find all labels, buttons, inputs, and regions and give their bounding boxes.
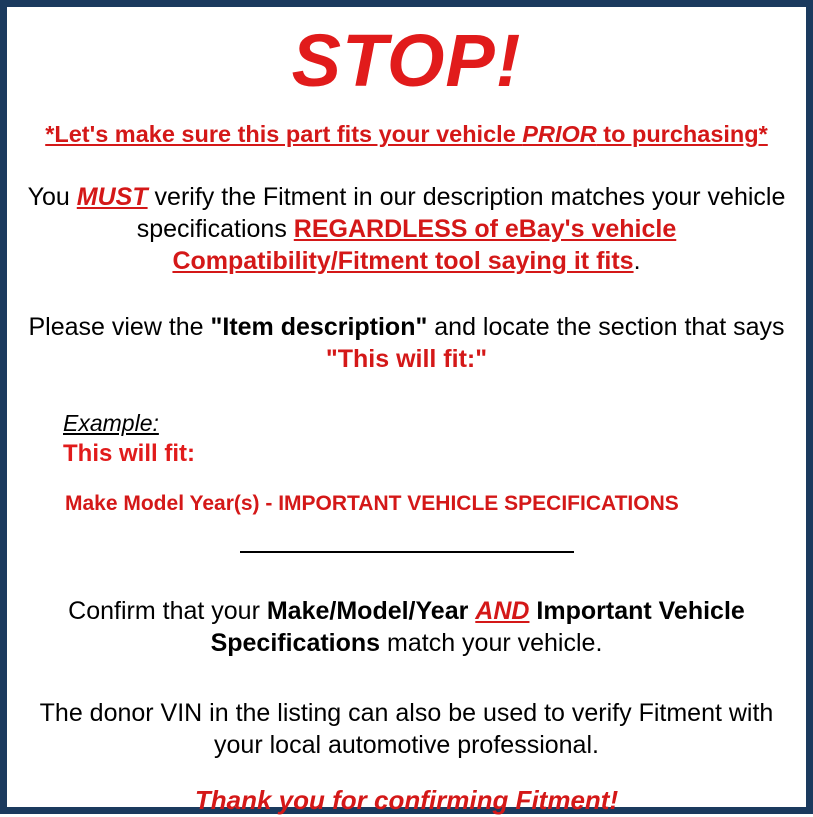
subtitle-emphasis-prior: PRIOR bbox=[522, 121, 596, 147]
must-verify-paragraph: You MUST verify the Fitment in our descr… bbox=[19, 149, 794, 277]
notice-inner: STOP! *Let's make sure this part fits yo… bbox=[19, 7, 794, 807]
confirm-part-1: Confirm that your bbox=[68, 597, 267, 625]
make-model-year-emphasis: Make/Model/Year bbox=[267, 597, 468, 625]
fitment-notice-card: STOP! *Let's make sure this part fits yo… bbox=[0, 0, 813, 814]
confirm-paragraph: Confirm that your Make/Model/Year AND Im… bbox=[19, 561, 794, 659]
divider-wrap bbox=[19, 517, 794, 561]
must-part-1: You bbox=[28, 183, 77, 211]
item-description-quote: "Item description" bbox=[211, 313, 428, 341]
and-keyword: AND bbox=[475, 597, 529, 625]
this-will-fit-quote: "This will fit:" bbox=[326, 345, 487, 373]
example-label-row: Example: bbox=[63, 409, 794, 437]
closing-thank-you: Thank you for confirming Fitment! bbox=[19, 761, 794, 817]
stop-headline: STOP! bbox=[19, 7, 794, 103]
item-description-paragraph: Please view the "Item description" and l… bbox=[19, 277, 794, 375]
subtitle-banner: *Let's make sure this part fits your veh… bbox=[19, 103, 794, 149]
subtitle-tail: to purchasing* bbox=[597, 121, 768, 147]
subtitle-lead: *Let's make sure this part fits your veh… bbox=[45, 121, 522, 147]
confirm-part-7: match your vehicle. bbox=[380, 629, 602, 657]
must-keyword: MUST bbox=[77, 183, 148, 211]
example-fit-heading: This will fit: bbox=[63, 437, 794, 469]
example-block: Example: This will fit: Make Model Year(… bbox=[19, 375, 794, 517]
example-spec-line: Make Model Year(s) - IMPORTANT VEHICLE S… bbox=[63, 469, 794, 517]
donor-vin-paragraph: The donor VIN in the listing can also be… bbox=[19, 659, 794, 761]
please-part-1: Please view the bbox=[28, 313, 210, 341]
please-part-3: and locate the section that says bbox=[427, 313, 784, 341]
example-label: Example: bbox=[63, 409, 159, 437]
section-divider bbox=[240, 551, 574, 553]
must-period: . bbox=[634, 247, 641, 275]
